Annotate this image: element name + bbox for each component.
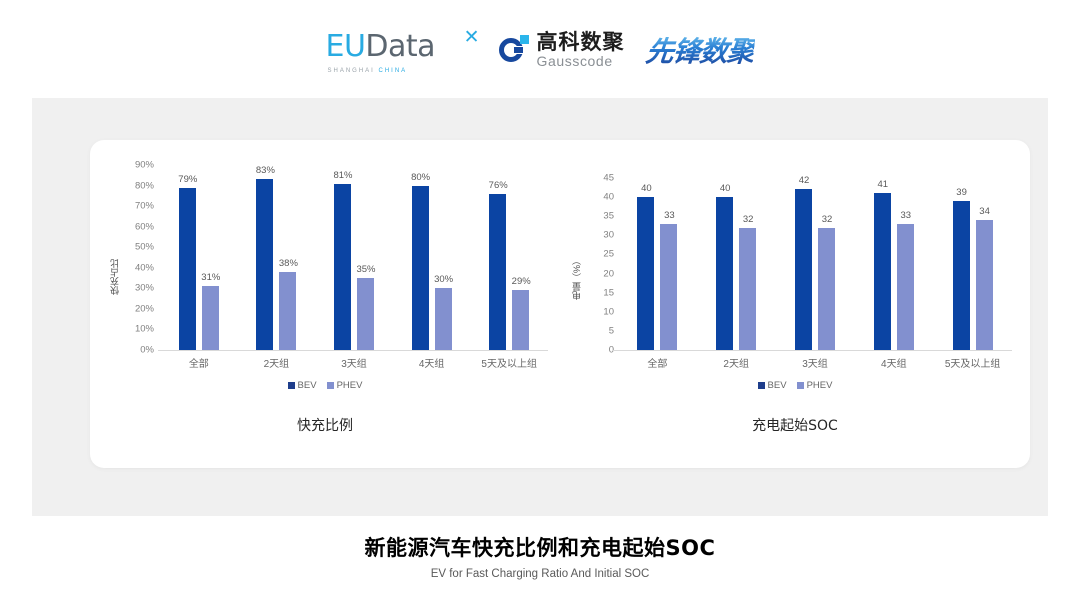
bar-value-label: 39	[945, 187, 979, 198]
bar-phev[interactable]	[660, 224, 677, 350]
category-label: 4天组	[854, 355, 934, 370]
charts-row: 快充占比 90%80%70%60%50%40%30%20%10%0% 79%31…	[90, 140, 1030, 468]
gausscode-bar-shape	[514, 47, 523, 53]
y-tick-label: 30	[580, 230, 614, 241]
bar-group: 79%31%	[179, 165, 219, 350]
bar-phev[interactable]	[897, 224, 914, 350]
bar-bev[interactable]	[179, 188, 196, 350]
y-tick-label: 70%	[120, 201, 154, 212]
bar-value-label: 33	[889, 210, 923, 221]
right-chart-y-ticks: 454035302520151050	[580, 178, 608, 350]
bar-group: 4133	[874, 178, 914, 350]
bar-group: 80%30%	[412, 165, 452, 350]
evdata-ev-text: EU	[325, 29, 365, 64]
caption-title-cn: 新能源汽车快充比例和充电起始SOC	[0, 532, 1080, 562]
category-label: 4天组	[392, 355, 472, 370]
bar-value-label: 79%	[171, 174, 205, 185]
bar-value-label: 31%	[194, 272, 228, 283]
bar-bev[interactable]	[953, 201, 970, 350]
left-chart-legend: BEV PHEV	[90, 380, 560, 391]
y-tick-label: 90%	[120, 160, 154, 171]
bar-value-label: 38%	[271, 258, 305, 269]
right-chart-title: 充电起始SOC	[560, 415, 1030, 435]
left-chart-y-ticks: 90%80%70%60%50%40%30%20%10%0%	[120, 165, 154, 350]
y-tick-label: 45	[580, 173, 614, 184]
gausscode-wordmark: 高科数聚 Gausscode	[536, 32, 624, 68]
category-label: 5天及以上组	[469, 355, 549, 370]
y-tick-label: 15	[580, 287, 614, 298]
category-label: 3天组	[314, 355, 394, 370]
bar-group: 3934	[953, 178, 993, 350]
evdata-subtitle-shanghai: SHANGHAI	[327, 68, 374, 74]
x-mark-icon: ✕	[464, 26, 480, 49]
y-tick-label: 35	[580, 211, 614, 222]
bar-bev[interactable]	[489, 194, 506, 350]
bar-value-label: 32	[731, 214, 765, 225]
right-chart-bars: 40334032423241333934	[618, 178, 1012, 350]
y-tick-label: 25	[580, 249, 614, 260]
bar-phev[interactable]	[357, 278, 374, 350]
right-chart-baseline	[612, 350, 1012, 351]
bar-group: 4032	[716, 178, 756, 350]
logo-bar: EUData ✕ SHANGHAI CHINA 高科数聚 Gausscode 先…	[0, 22, 1080, 78]
legend-label-bev: BEV	[298, 380, 317, 391]
evdata-subtitle: SHANGHAI CHINA	[327, 68, 407, 74]
legend-label-phev: PHEV	[337, 380, 363, 391]
chart-initial-soc: 电量（%） 454035302520151050 403340324232413…	[560, 140, 1030, 468]
y-tick-label: 0	[580, 345, 614, 356]
gausscode-en-text: Gausscode	[536, 54, 624, 68]
bar-value-label: 40	[629, 183, 663, 194]
bar-value-label: 80%	[404, 172, 438, 183]
bar-phev[interactable]	[512, 290, 529, 350]
bar-group: 4232	[795, 178, 835, 350]
category-label: 5天及以上组	[933, 355, 1013, 370]
bar-value-label: 30%	[427, 274, 461, 285]
y-tick-label: 60%	[120, 221, 154, 232]
y-tick-label: 40	[580, 192, 614, 203]
bar-phev[interactable]	[976, 220, 993, 350]
bar-group: 83%38%	[256, 165, 296, 350]
y-tick-label: 10%	[120, 324, 154, 335]
bar-phev[interactable]	[202, 286, 219, 350]
gausscode-cn-text: 高科数聚	[536, 32, 624, 53]
evdata-logo: EUData ✕ SHANGHAI CHINA	[325, 27, 477, 73]
bar-value-label: 42	[787, 175, 821, 186]
category-label: 3天组	[775, 355, 855, 370]
legend-swatch-phev-icon	[327, 382, 334, 389]
y-tick-label: 40%	[120, 262, 154, 273]
category-label: 2天组	[236, 355, 316, 370]
bar-value-label: 34	[968, 206, 1002, 217]
legend-swatch-bev-icon	[288, 382, 295, 389]
bar-phev[interactable]	[818, 228, 835, 350]
xianfeng-shuju-logo: 先锋数聚	[644, 30, 756, 70]
legend-label-bev: BEV	[768, 380, 787, 391]
chart-fast-charging-ratio: 快充占比 90%80%70%60%50%40%30%20%10%0% 79%31…	[90, 140, 560, 468]
bar-group: 4033	[637, 178, 677, 350]
bar-group: 81%35%	[334, 165, 374, 350]
category-label: 全部	[617, 355, 697, 370]
left-chart-bars: 79%31%83%38%81%35%80%30%76%29%	[160, 165, 548, 350]
bar-value-label: 40	[708, 183, 742, 194]
left-chart-title: 快充比例	[90, 415, 560, 435]
gausscode-mark-icon	[499, 35, 529, 65]
charts-card: 快充占比 90%80%70%60%50%40%30%20%10%0% 79%31…	[90, 140, 1030, 468]
right-chart-legend: BEV PHEV	[560, 380, 1030, 391]
y-tick-label: 20%	[120, 303, 154, 314]
caption-title-en: EV for Fast Charging Ratio And Initial S…	[0, 568, 1080, 580]
y-tick-label: 30%	[120, 283, 154, 294]
legend-swatch-bev-icon	[758, 382, 765, 389]
gausscode-dot-shape	[520, 35, 529, 44]
bar-value-label: 29%	[504, 276, 538, 287]
y-tick-label: 0%	[120, 345, 154, 356]
legend-item-bev[interactable]: BEV	[758, 380, 787, 391]
bar-value-label: 35%	[349, 264, 383, 275]
bar-value-label: 32	[810, 214, 844, 225]
legend-label-phev: PHEV	[807, 380, 833, 391]
bar-phev[interactable]	[435, 288, 452, 350]
y-tick-label: 80%	[120, 180, 154, 191]
category-label: 2天组	[696, 355, 776, 370]
legend-item-phev[interactable]: PHEV	[327, 380, 363, 391]
bar-value-label: 41	[866, 179, 900, 190]
bar-value-label: 76%	[481, 180, 515, 191]
legend-item-phev[interactable]: PHEV	[797, 380, 833, 391]
evdata-wordmark: EUData	[325, 29, 435, 64]
y-tick-label: 5	[580, 325, 614, 336]
left-chart-baseline	[158, 350, 548, 351]
y-tick-label: 20	[580, 268, 614, 279]
legend-item-bev[interactable]: BEV	[288, 380, 317, 391]
bar-value-label: 81%	[326, 170, 360, 181]
right-chart-category-labels: 全部2天组3天组4天组5天及以上组	[618, 355, 1012, 373]
legend-swatch-phev-icon	[797, 382, 804, 389]
y-tick-label: 10	[580, 306, 614, 317]
bar-group: 76%29%	[489, 165, 529, 350]
evdata-subtitle-china: CHINA	[379, 68, 408, 74]
gausscode-logo: 高科数聚 Gausscode	[499, 32, 624, 68]
left-chart-category-labels: 全部2天组3天组4天组5天及以上组	[160, 355, 548, 373]
evdata-data-text: Data	[365, 29, 435, 64]
bar-value-label: 83%	[248, 165, 282, 176]
bar-value-label: 33	[652, 210, 686, 221]
y-tick-label: 50%	[120, 242, 154, 253]
caption: 新能源汽车快充比例和充电起始SOC EV for Fast Charging R…	[0, 532, 1080, 580]
category-label: 全部	[159, 355, 239, 370]
bar-phev[interactable]	[279, 272, 296, 350]
bar-bev[interactable]	[412, 186, 429, 350]
bar-phev[interactable]	[739, 228, 756, 350]
